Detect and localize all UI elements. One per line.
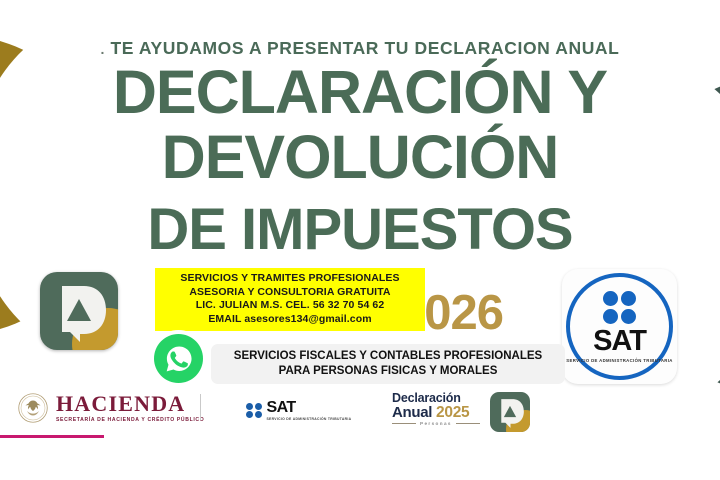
services-line-2: PARA PERSONAS FISICAS Y MORALES bbox=[279, 364, 498, 379]
sat-small-dots-icon bbox=[246, 403, 262, 419]
services-line-1: SERVICIOS FISCALES Y CONTABLES PROFESION… bbox=[234, 349, 542, 364]
services-box: SERVICIOS FISCALES Y CONTABLES PROFESION… bbox=[211, 344, 565, 384]
sat-small-subtitle: SERVICIO DE ADMINISTRACIÓN TRIBUTARIA bbox=[267, 418, 352, 421]
yellow-line-4: EMAIL asesores134@gmail.com bbox=[157, 313, 423, 327]
da-icon-glyph bbox=[490, 392, 530, 432]
declaracion-anual-caption-row: Personas bbox=[392, 421, 480, 426]
top-white-band bbox=[0, 0, 720, 36]
title-line-2: DEVOLUCIÓN bbox=[0, 127, 720, 188]
hacienda-text: HACIENDA SECRETARÍA DE HACIENDA Y CRÉDIT… bbox=[56, 393, 204, 423]
kicker-text: . TE AYUDAMOS A PRESENTAR TU DECLARACION… bbox=[0, 38, 720, 59]
sat-dots-icon bbox=[603, 291, 636, 324]
yellow-line-2: ASESORIA Y CONSULTORIA GRATUITA bbox=[157, 286, 423, 300]
mexico-eagle-seal-icon bbox=[18, 393, 48, 423]
poster-canvas: . TE AYUDAMOS A PRESENTAR TU DECLARACION… bbox=[0, 0, 720, 480]
declaracion-anual-line-2: Anual 2025 bbox=[392, 405, 480, 420]
yellow-info-box: SERVICIOS Y TRAMITES PROFESIONALES ASESO… bbox=[155, 268, 425, 331]
sat-logo-card[interactable]: SAT SERVICIO DE ADMINISTRACIÓN TRIBUTARI… bbox=[562, 269, 677, 384]
declaracion-anual-logo[interactable]: Declaración Anual 2025 Personas bbox=[392, 392, 480, 426]
sat-small-logo[interactable]: SAT SERVICIO DE ADMINISTRACIÓN TRIBUTARI… bbox=[246, 400, 351, 421]
declaracion-anual-app-icon[interactable] bbox=[490, 392, 530, 432]
yellow-line-1: SERVICIOS Y TRAMITES PROFESIONALES bbox=[157, 272, 423, 286]
hacienda-subtitle: SECRETARÍA DE HACIENDA Y CRÉDITO PÚBLICO bbox=[56, 418, 204, 423]
whatsapp-glyph bbox=[162, 342, 196, 376]
kicker-label: TE AYUDAMOS A PRESENTAR TU DECLARACION A… bbox=[111, 38, 620, 58]
declaracion-anual-anual: Anual bbox=[392, 404, 436, 421]
sat-logo-ring: SAT SERVICIO DE ADMINISTRACIÓN TRIBUTARI… bbox=[566, 273, 673, 380]
declaracion-anual-year: 2025 bbox=[436, 404, 469, 421]
whatsapp-icon[interactable] bbox=[150, 330, 207, 387]
app-icon-glyph bbox=[40, 272, 118, 350]
hacienda-logo[interactable]: HACIENDA SECRETARÍA DE HACIENDA Y CRÉDIT… bbox=[18, 393, 204, 423]
sat-subtitle: SERVICIO DE ADMINISTRACIÓN TRIBUTARIA bbox=[566, 358, 672, 363]
declaracion-app-icon[interactable] bbox=[40, 272, 118, 350]
sat-small-text: SAT SERVICIO DE ADMINISTRACIÓN TRIBUTARI… bbox=[267, 400, 352, 421]
sat-wordmark: SAT bbox=[593, 327, 646, 356]
sat-small-wordmark: SAT bbox=[267, 400, 352, 416]
declaracion-anual-caption: Personas bbox=[420, 421, 452, 426]
title-line-3: DE IMPUESTOS bbox=[0, 201, 720, 259]
pink-accent-rule bbox=[0, 435, 104, 438]
logo-divider bbox=[200, 394, 201, 420]
hacienda-title: HACIENDA bbox=[56, 393, 204, 415]
title-line-1: DECLARACIÓN Y bbox=[0, 62, 720, 123]
kicker-lead-dot: . bbox=[101, 41, 106, 57]
caption-rule-right bbox=[456, 423, 480, 424]
yellow-line-3: LIC. JULIAN M.S. CEL. 56 32 70 54 62 bbox=[157, 299, 423, 313]
caption-rule-left bbox=[392, 423, 416, 424]
whatsapp-circle bbox=[154, 334, 203, 383]
